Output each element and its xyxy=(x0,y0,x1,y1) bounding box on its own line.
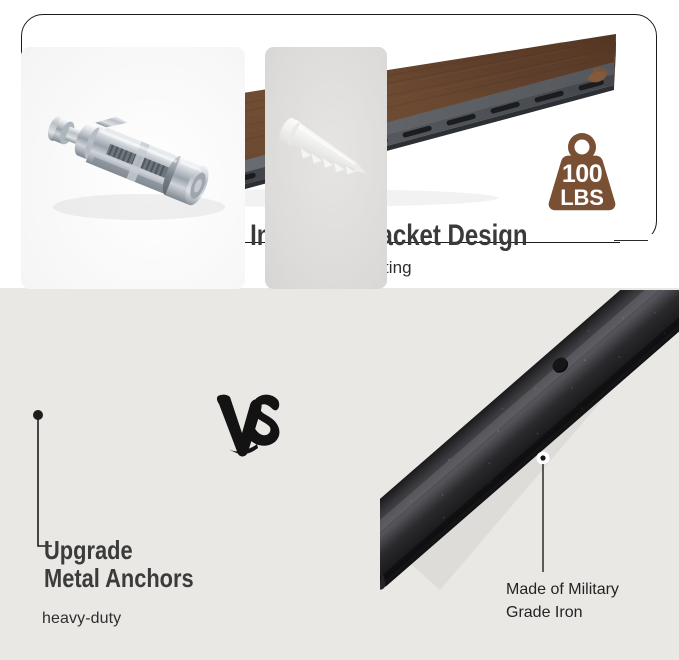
pipe-callout-leader xyxy=(530,448,556,576)
weight-unit: LBS xyxy=(540,187,624,209)
infographic-page: 100 LBS Smart & Invisible Bracket Design… xyxy=(0,0,679,660)
anchor-caption-subtitle: heavy-duty xyxy=(42,610,121,628)
plastic-anchor-card xyxy=(265,47,387,289)
anchor-caption-line1: Upgrade xyxy=(44,535,133,565)
pipe-caption: Made of Military Grade Iron xyxy=(506,578,619,624)
pipe-caption-line1: Made of Military xyxy=(506,578,619,601)
metal-anchor-image xyxy=(21,47,245,289)
weight-badge: 100 LBS xyxy=(540,129,624,221)
pipe-caption-line2: Grade Iron xyxy=(506,601,619,624)
frame-stub-right xyxy=(614,240,648,241)
metal-anchor-card xyxy=(21,47,245,289)
plastic-anchor-image xyxy=(265,47,387,289)
anchor-caption: Upgrade Metal Anchors xyxy=(44,536,194,592)
anchor-caption-line2: Metal Anchors xyxy=(44,564,194,592)
versus-mark xyxy=(216,388,282,460)
weight-value: 100 xyxy=(540,162,624,187)
